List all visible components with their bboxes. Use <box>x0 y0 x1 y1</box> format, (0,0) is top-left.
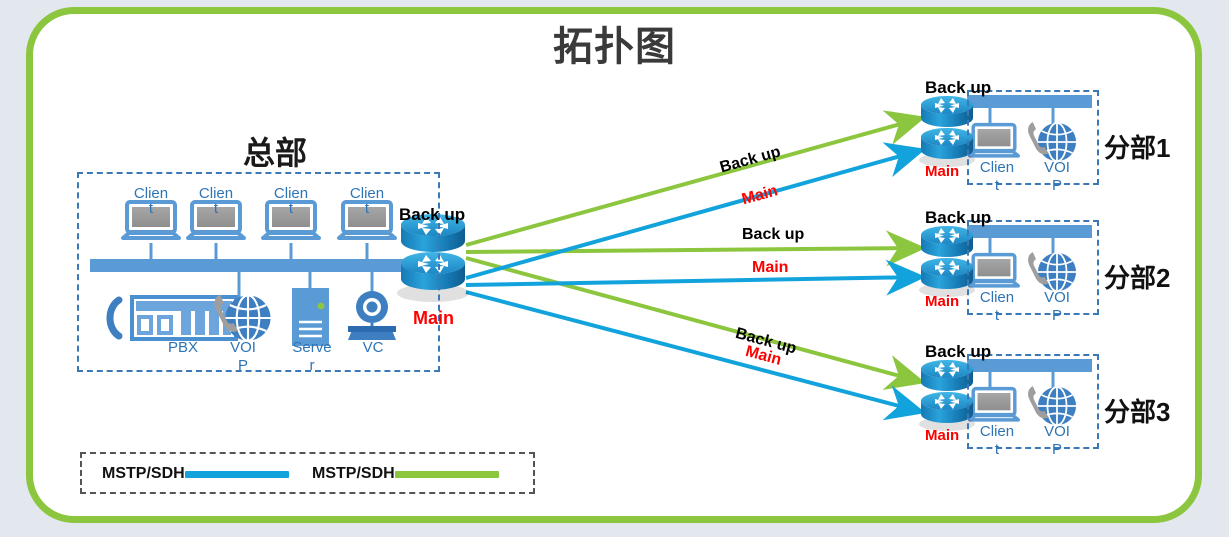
branch-1-client-label: Clien <box>968 160 1026 176</box>
branch-2-voip-label: VOI <box>1030 290 1084 306</box>
legend-item-2-swatch <box>395 471 499 478</box>
link-backup-label-branch-2: Back up <box>742 226 804 244</box>
legend-item-1: MSTP/SDH <box>102 465 289 483</box>
hq-vc-label: VC <box>345 340 401 356</box>
branch-1-name: 分部1 <box>1104 128 1170 165</box>
branch-3-client-label-cont: t <box>968 442 1026 458</box>
legend-item-2: MSTP/SDH <box>312 465 499 483</box>
legend-item-1-label: MSTP/SDH <box>102 465 185 483</box>
hq-server-label-cont: r <box>277 358 347 374</box>
branch-2-client-label-cont: t <box>968 308 1026 324</box>
legend: MSTP/SDH MSTP/SDH <box>80 452 535 494</box>
branch-1-voip-label: VOI <box>1030 160 1084 176</box>
branch-2-name: 分部2 <box>1104 258 1170 295</box>
branch-1-router-main-label: Main <box>925 163 959 180</box>
branch-2-client-label: Clien <box>968 290 1026 306</box>
branch-3-name: 分部3 <box>1104 392 1170 429</box>
branch-1-router-backup-label: Back up <box>925 78 991 98</box>
branch-2-router-main-label: Main <box>925 293 959 310</box>
branch-3-voip-label: VOI <box>1030 424 1084 440</box>
branch-3-router-main-label: Main <box>925 427 959 444</box>
hq-voip-label-cont: P <box>208 358 278 374</box>
hq-client-2-label-cont: t <box>181 201 251 217</box>
hq-client-3-label-cont: t <box>256 201 326 217</box>
branch-1-client-label-cont: t <box>968 178 1026 194</box>
legend-item-2-label: MSTP/SDH <box>312 465 395 483</box>
branch-2-router-backup-label: Back up <box>925 208 991 228</box>
hq-voip-label: VOI <box>208 340 278 356</box>
page-title: 拓扑图 <box>0 14 1229 72</box>
branch-2-voip-label-cont: P <box>1030 308 1084 324</box>
hq-server-label: Serve <box>277 340 347 356</box>
hq-client-1-label-cont: t <box>116 201 186 217</box>
legend-item-1-swatch <box>185 471 289 478</box>
hq-router-main-label: Main <box>413 308 454 329</box>
hq-client-4-label-cont: t <box>332 201 402 217</box>
topology-diagram-canvas: 拓扑图 <box>0 0 1229 537</box>
link-main-label-branch-2: Main <box>752 259 788 277</box>
branch-1-voip-label-cont: P <box>1030 178 1084 194</box>
branch-3-router-backup-label: Back up <box>925 342 991 362</box>
hq-title: 总部 <box>185 128 365 174</box>
hq-router-backup-label: Back up <box>399 205 465 225</box>
branch-3-client-label: Clien <box>968 424 1026 440</box>
branch-3-voip-label-cont: P <box>1030 442 1084 458</box>
